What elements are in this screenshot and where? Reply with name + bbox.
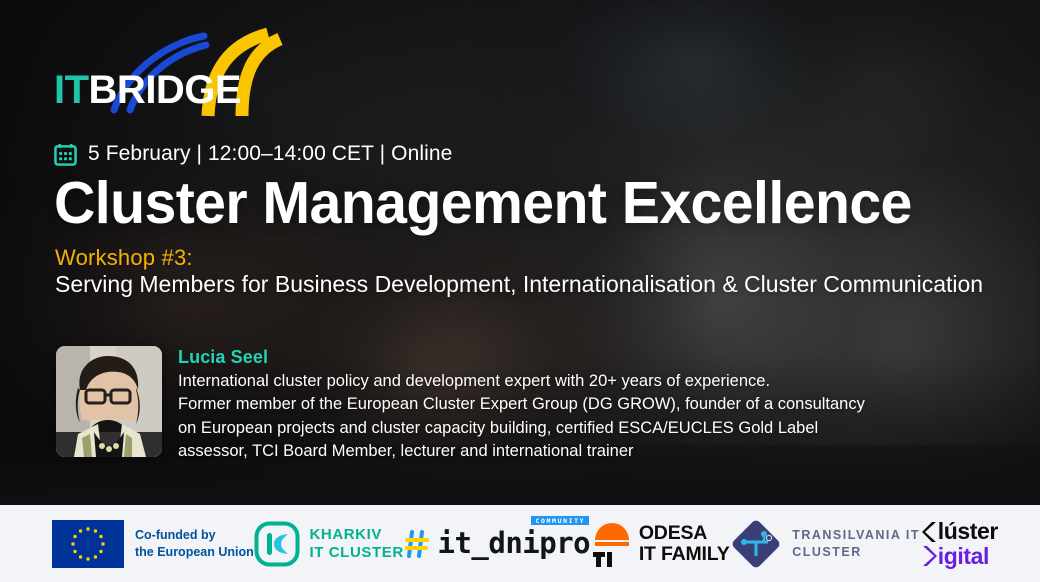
itbridge-wordmark: ITBRIDGE — [54, 70, 241, 110]
transilvania-it-cluster-logo[interactable]: TRANSILVANIA IT CLUSTER — [730, 518, 920, 570]
kluster-text-top: lúster — [938, 520, 998, 543]
kluster-text-bottom: igital — [938, 545, 989, 568]
dnipro-community-badge: COMMUNITY — [531, 516, 590, 526]
hashtag-icon — [405, 529, 431, 559]
dnipro-wordmark: it_dnipro — [438, 529, 591, 558]
speaker-name: Lucia Seel — [178, 347, 268, 368]
kharkiv-logo-text: KHARKIV IT CLUSTER — [309, 526, 403, 561]
odesa-mark-icon — [591, 521, 633, 567]
workshop-label: Workshop #3: — [55, 245, 193, 271]
left-chevron-icon — [921, 520, 938, 544]
transilvania-logo-text: TRANSILVANIA IT CLUSTER — [792, 527, 920, 561]
odesa-it-family-logo[interactable]: ODESA IT FAMILY — [591, 521, 730, 567]
itbridge-logo[interactable]: ITBRIDGE — [52, 26, 292, 118]
partner-footer: Co-funded by the European Union KHARKIV … — [0, 505, 1040, 582]
kharkiv-mark-icon — [254, 521, 300, 567]
logo-it-text: IT — [54, 68, 89, 112]
eu-logo-text: Co-funded by the European Union — [135, 527, 254, 560]
odesa-logo-text: ODESA IT FAMILY — [639, 523, 730, 564]
eu-flag-icon — [52, 520, 124, 568]
workshop-description: Serving Members for Business Development… — [55, 269, 983, 299]
promo-poster: ITBRIDGE 5 February | 12:00–14:00 CET | … — [0, 0, 1040, 582]
eu-co-funded-logo[interactable]: Co-funded by the European Union — [52, 520, 254, 568]
right-chevron-icon — [921, 544, 938, 568]
logo-bridge-text: BRIDGE — [89, 68, 242, 112]
kharkiv-it-cluster-logo[interactable]: KHARKIV IT CLUSTER — [254, 521, 403, 567]
transilvania-mark-icon — [730, 518, 782, 570]
speaker-bio: International cluster policy and develop… — [178, 370, 865, 464]
speaker-photo — [56, 346, 162, 457]
page-title: Cluster Management Excellence — [54, 172, 912, 235]
it-dnipro-logo[interactable]: it_dnipro COMMUNITY — [405, 529, 591, 559]
kluster-digital-logo[interactable]: lúster igital — [921, 520, 998, 568]
event-dateline: 5 February | 12:00–14:00 CET | Online — [54, 142, 452, 166]
dateline-text: 5 February | 12:00–14:00 CET | Online — [88, 142, 452, 166]
calendar-icon — [54, 143, 77, 166]
